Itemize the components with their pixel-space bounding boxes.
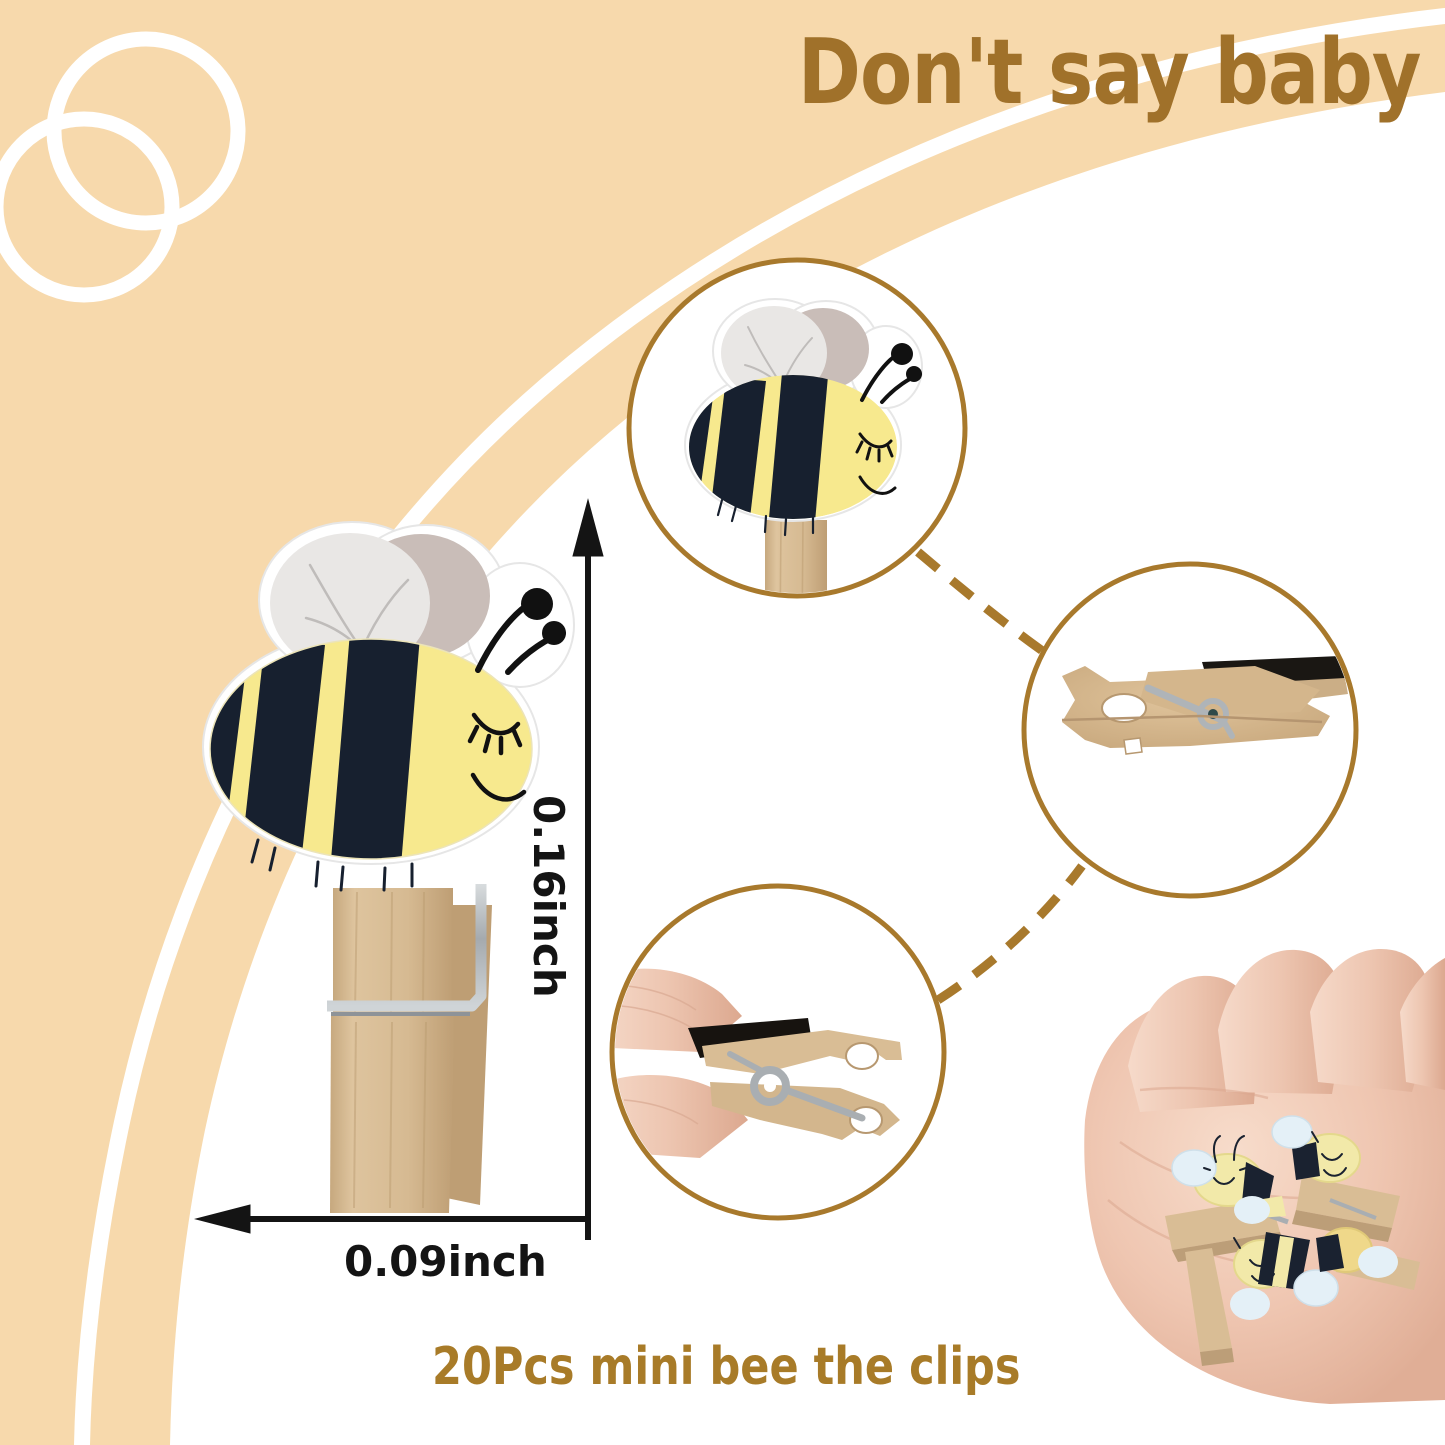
product-infographic: Don't say baby 20Pcs mini bee the clips … bbox=[0, 0, 1445, 1445]
height-dimension-label: 0.16inch bbox=[524, 795, 573, 998]
width-dimension-label: 0.09inch bbox=[344, 1237, 547, 1286]
scale-photo-bee-clips-in-palm bbox=[0, 0, 1445, 1445]
product-caption: 20Pcs mini bee the clips bbox=[432, 1337, 1020, 1397]
page-title: Don't say baby bbox=[798, 26, 1421, 121]
